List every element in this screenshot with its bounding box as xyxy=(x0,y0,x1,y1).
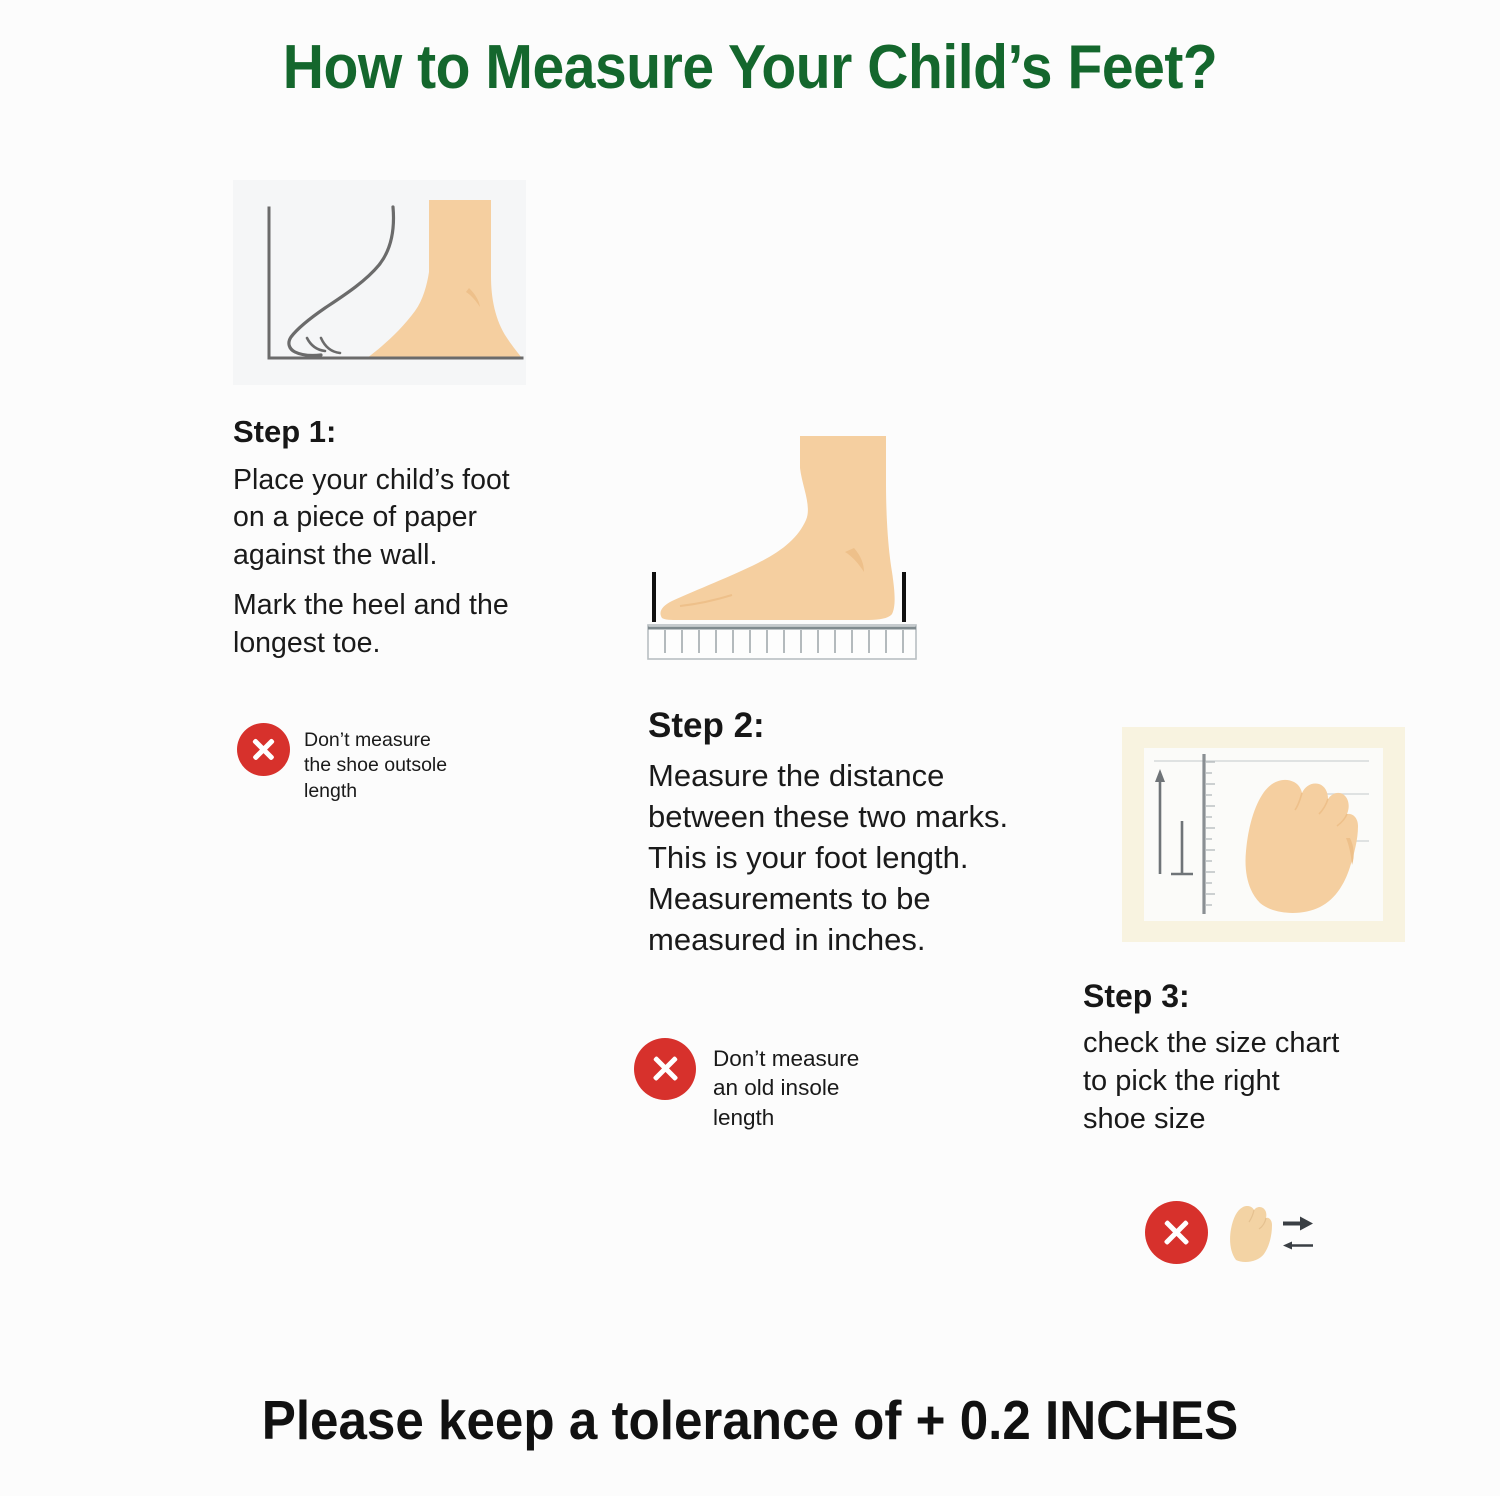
step1-warning-line-1: Don’t measure xyxy=(304,728,447,753)
step3-block: Step 3: check the size chart to pick the… xyxy=(1083,978,1433,1139)
arrow-stack xyxy=(1282,1215,1314,1251)
page-title: How to Measure Your Child’s Feet? xyxy=(60,32,1440,103)
foot-sole-shape xyxy=(1246,780,1358,913)
step1-line-1: Place your child’s foot xyxy=(233,462,563,500)
red-x-circle-icon xyxy=(634,1038,696,1100)
step2-line-3: This is your foot length. xyxy=(648,838,1078,879)
infographic-stage: How to Measure Your Child’s Feet? Step 1… xyxy=(0,0,1500,1496)
foot-sole-on-measuring-chart-illustration xyxy=(1144,748,1383,921)
foot-width-icon-group xyxy=(1224,1202,1314,1264)
tolerance-note: Please keep a tolerance of + 0.2 INCHES xyxy=(53,1388,1448,1452)
step2-illustration-panel xyxy=(640,420,940,665)
step1-line-5: longest toe. xyxy=(233,625,563,663)
step2-warning-text: Don’t measure an old insole length xyxy=(713,1038,859,1132)
foot-side-shape xyxy=(660,436,894,620)
red-x-circle-icon xyxy=(1145,1201,1208,1264)
step2-body: Measure the distance between these two m… xyxy=(648,756,1078,961)
foot-sole-icon xyxy=(1224,1202,1276,1264)
step3-line-2: to pick the right xyxy=(1083,1062,1433,1100)
step2-warning-line-3: length xyxy=(713,1103,859,1132)
step3-illustration-panel xyxy=(1122,727,1405,942)
arrow-right-icon xyxy=(1282,1215,1314,1232)
step1-line-2: on a piece of paper xyxy=(233,499,563,537)
red-x-circle-icon xyxy=(237,723,290,776)
step2-line-1: Measure the distance xyxy=(648,756,1078,797)
foot-side-with-ruler-illustration xyxy=(640,420,940,665)
step1-body: Place your child’s foot on a piece of pa… xyxy=(233,462,563,663)
step1-block: Step 1: Place your child’s foot on a pie… xyxy=(233,414,563,663)
step2-line-4: Measurements to be xyxy=(648,879,1078,920)
step1-warning-text: Don’t measure the shoe outsole length xyxy=(304,723,447,804)
step3-line-1: check the size chart xyxy=(1083,1024,1433,1062)
vertical-ruler-ticks xyxy=(1206,762,1215,905)
step1-line-3: against the wall. xyxy=(233,537,563,575)
step1-paragraph-gap xyxy=(233,574,563,587)
step2-line-2: between these two marks. xyxy=(648,797,1078,838)
step1-title: Step 1: xyxy=(233,414,563,450)
foot-side-shape xyxy=(367,200,522,358)
step3-illustration-inner xyxy=(1144,748,1383,921)
step2-line-5: measured in inches. xyxy=(648,920,1078,961)
step3-warning xyxy=(1145,1201,1314,1264)
step2-block: Step 2: Measure the distance between the… xyxy=(648,706,1078,961)
step2-warning-line-2: an old insole xyxy=(713,1073,859,1102)
step3-title: Step 3: xyxy=(1083,978,1433,1015)
foot-side-against-wall-illustration xyxy=(233,180,526,385)
step2-warning: Don’t measure an old insole length xyxy=(634,1038,859,1132)
step2-title: Step 2: xyxy=(648,706,1078,746)
step1-warning-line-2: the shoe outsole xyxy=(304,753,447,778)
step1-warning-line-3: length xyxy=(304,779,447,804)
foot-sole-shape xyxy=(1230,1206,1272,1262)
step1-line-4: Mark the heel and the xyxy=(233,587,563,625)
step1-illustration-panel xyxy=(233,180,526,385)
toe-outline xyxy=(289,207,394,355)
step1-warning: Don’t measure the shoe outsole length xyxy=(237,723,447,804)
short-measure-line-icon xyxy=(1171,821,1193,874)
ruler-body xyxy=(648,625,916,659)
arrow-head-up-icon xyxy=(1155,769,1165,782)
step3-line-3: shoe size xyxy=(1083,1100,1433,1138)
arrow-left-icon xyxy=(1282,1240,1314,1251)
step2-warning-line-1: Don’t measure xyxy=(713,1044,859,1073)
step3-body: check the size chart to pick the right s… xyxy=(1083,1024,1433,1139)
